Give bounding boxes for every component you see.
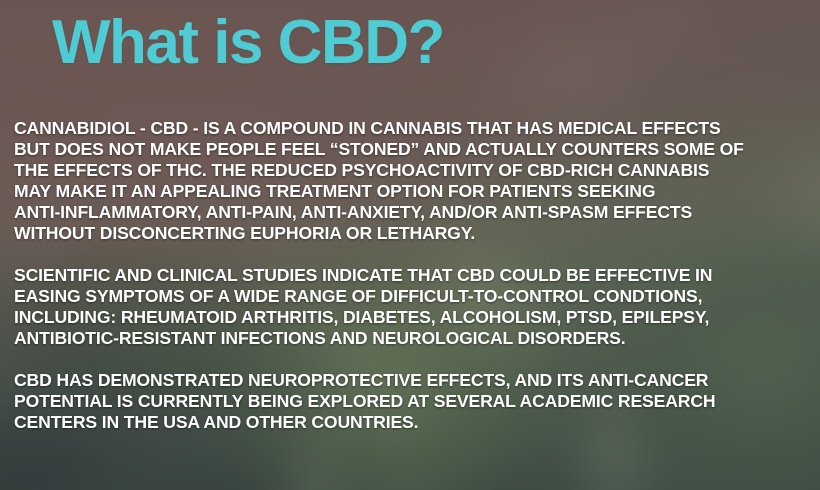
text-line: POTENTIAL IS CURRENTLY BEING EXPLORED AT… (14, 391, 814, 412)
paragraph-neuroprotective: CBD HAS DEMONSTRATED NEUROPROTECTIVE EFF… (14, 370, 814, 433)
paragraph-studies: SCIENTIFIC AND CLINICAL STUDIES INDICATE… (14, 265, 814, 349)
cbd-infographic-card: What is CBD? CANNABIDIOL - CBD - IS A CO… (0, 0, 820, 490)
text-line: CENTERS IN THE USA AND OTHER COUNTRIES. (14, 412, 814, 433)
text-line: ANTI-INFLAMMATORY, ANTI-PAIN, ANTI-ANXIE… (14, 202, 814, 223)
text-line: THE EFFECTS OF THC. THE REDUCED PSYCHOAC… (14, 160, 814, 181)
text-line: BUT DOES NOT MAKE PEOPLE FEEL “STONED” A… (14, 139, 814, 160)
text-line: ANTIBIOTIC-RESISTANT INFECTIONS AND NEUR… (14, 328, 814, 349)
body-text-block: CANNABIDIOL - CBD - IS A COMPOUND IN CAN… (14, 118, 814, 433)
text-line: CANNABIDIOL - CBD - IS A COMPOUND IN CAN… (14, 118, 814, 139)
text-line: CBD HAS DEMONSTRATED NEUROPROTECTIVE EFF… (14, 370, 814, 391)
text-line: INCLUDING: RHEUMATOID ARTHRITIS, DIABETE… (14, 307, 814, 328)
text-line: SCIENTIFIC AND CLINICAL STUDIES INDICATE… (14, 265, 814, 286)
paragraph-definition: CANNABIDIOL - CBD - IS A COMPOUND IN CAN… (14, 118, 814, 244)
text-line: MAY MAKE IT AN APPEALING TREATMENT OPTIO… (14, 181, 814, 202)
text-line: EASING SYMPTOMS OF A WIDE RANGE OF DIFFI… (14, 286, 814, 307)
text-line: WITHOUT DISCONCERTING EUPHORIA OR LETHAR… (14, 223, 814, 244)
card-content: What is CBD? CANNABIDIOL - CBD - IS A CO… (0, 0, 820, 490)
page-title: What is CBD? (52, 8, 444, 78)
